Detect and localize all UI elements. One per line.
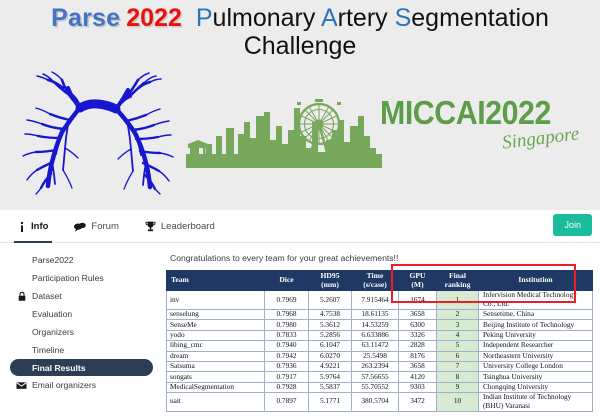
title-word-segmentation: egmentation	[411, 4, 549, 32]
cell-gpu: 3326	[399, 330, 437, 340]
cell-hd95: 4.9221	[309, 361, 352, 371]
cell-time: 14.53259	[352, 320, 399, 330]
cell-institution: Peking University	[479, 330, 593, 340]
col-header-dice: Dice	[265, 271, 309, 291]
table-row: uait0.78975.1771380.5704347210Indian Ins…	[167, 393, 593, 412]
info-icon	[18, 222, 26, 232]
table-row: senselung0.79684.753818.6113536582Senset…	[167, 309, 593, 319]
col-header-time-line1: Time	[367, 271, 384, 280]
tab-forum-label: Forum	[91, 221, 118, 232]
title-line-challenge: Challenge	[0, 32, 600, 60]
cell-time: 57.56655	[352, 372, 399, 382]
cell-team: inv	[167, 291, 265, 310]
cell-rank: 4	[437, 330, 479, 340]
cell-gpu: 3472	[399, 393, 437, 412]
title-cap-a: A	[321, 4, 338, 32]
cell-hd95: 6.1047	[309, 341, 352, 351]
col-header-rank-line2: ranking	[445, 280, 471, 289]
table-row: Satsuma0.79364.9221263.239436587Universi…	[167, 361, 593, 371]
challenge-banner: Parse2022Pulmonary Artery Segmentation C…	[0, 0, 600, 210]
cell-rank: 8	[437, 372, 479, 382]
cell-rank: 9	[437, 382, 479, 392]
cell-team: uait	[167, 393, 265, 412]
col-header-final-ranking: Final ranking	[437, 271, 479, 291]
table-header-row: Team Dice HD95 (mm) Time (s/case)	[167, 271, 593, 291]
cell-rank: 6	[437, 351, 479, 361]
col-header-gpu: GPU (M)	[399, 271, 437, 291]
cell-institution: Northeastern University	[479, 351, 593, 361]
cell-time: 18.61135	[352, 309, 399, 319]
col-header-gpu-line2: (M)	[411, 280, 423, 289]
cell-time: 263.2394	[352, 361, 399, 371]
title-cap-s: S	[395, 4, 412, 32]
sidebar-icon-none	[16, 327, 27, 338]
cell-dice: 0.7940	[265, 341, 309, 351]
cell-rank: 10	[437, 393, 479, 412]
cell-gpu: 1674	[399, 291, 437, 310]
singapore-skyline-icon	[186, 96, 382, 168]
cell-hd95: 5.1771	[309, 393, 352, 412]
sidebar-item-final-results[interactable]: Final Results	[10, 359, 153, 376]
col-header-hd95-line2: (mm)	[321, 280, 339, 289]
cell-gpu: 8176	[399, 351, 437, 361]
cell-dice: 0.7917	[265, 372, 309, 382]
cell-dice: 0.7928	[265, 382, 309, 392]
sidebar-icon-none	[16, 362, 27, 373]
sidebar-item-email-organizers[interactable]: Email organizers	[10, 376, 160, 394]
title-year: 2022	[126, 4, 182, 32]
sidebar-item-parse2022[interactable]: Parse2022	[10, 251, 160, 269]
tab-info-label: Info	[31, 221, 48, 232]
cell-dice: 0.7942	[265, 351, 309, 361]
miccai-logo-text: MICCAI2022	[380, 96, 569, 129]
title-word-artery: rtery	[338, 4, 388, 32]
cell-dice: 0.7897	[265, 393, 309, 412]
sidebar-item-label: Dataset	[32, 291, 62, 301]
cell-team: yodo	[167, 330, 265, 340]
cell-institution: University College London	[479, 361, 593, 371]
cell-team: songats	[167, 372, 265, 382]
table-row: SenseMe0.79805.361214.5325963003Beijing …	[167, 320, 593, 330]
sidebar-icon-none	[16, 255, 27, 266]
col-header-time-line2: (s/case)	[363, 280, 387, 289]
table-row: MedicalSegmentation0.79285.583755.705529…	[167, 382, 593, 392]
cell-dice: 0.7833	[265, 330, 309, 340]
sidebar-item-label: Final Results	[32, 363, 85, 373]
cell-hd95: 5.3612	[309, 320, 352, 330]
sidebar-item-organizers[interactable]: Organizers	[10, 323, 160, 341]
cell-hd95: 5.2607	[309, 291, 352, 310]
cell-institution: Infervision Medical Technology Co., Ltd.	[479, 291, 593, 310]
cell-institution: Independent Researcher	[479, 341, 593, 351]
cell-dice: 0.7980	[265, 320, 309, 330]
sidebar-item-label: Parse2022	[32, 255, 74, 265]
col-header-rank-line1: Final	[449, 271, 466, 280]
col-header-institution: Institution	[479, 271, 593, 291]
trophy-icon	[145, 221, 156, 232]
tab-leaderboard[interactable]: Leaderboard	[145, 210, 215, 243]
cell-team: senselung	[167, 309, 265, 319]
title-cap-p: P	[196, 4, 213, 32]
cell-rank: 5	[437, 341, 479, 351]
cell-institution: Beijing Institute of Technology	[479, 320, 593, 330]
pulmonary-artery-tree-icon	[18, 70, 178, 195]
cell-dice: 0.7968	[265, 309, 309, 319]
sidebar-icon-none	[16, 309, 27, 320]
page-content: Parse2022 Participation Rules Dataset Ev…	[0, 243, 600, 418]
col-header-time: Time (s/case)	[352, 271, 399, 291]
join-button[interactable]: Join	[553, 214, 592, 236]
cell-rank: 7	[437, 361, 479, 371]
cell-dice: 0.7936	[265, 361, 309, 371]
sidebar-icon-none	[16, 273, 27, 284]
sidebar-item-participation-rules[interactable]: Participation Rules	[10, 269, 160, 287]
col-header-gpu-line1: GPU	[409, 271, 425, 280]
tab-leaderboard-label: Leaderboard	[161, 221, 215, 232]
lock-icon	[16, 291, 27, 302]
sidebar-icon-none	[16, 345, 27, 356]
cell-team: MedicalSegmentation	[167, 382, 265, 392]
cell-time: 63.11472	[352, 341, 399, 351]
cell-hd95: 5.5837	[309, 382, 352, 392]
main-panel: Congratulations to every team for your g…	[160, 243, 600, 418]
table-body: inv0.79695.26077.91546416741Infervision …	[167, 291, 593, 411]
cell-time: 7.915464	[352, 291, 399, 310]
banner-title: Parse2022Pulmonary Artery Segmentation C…	[0, 4, 600, 60]
cell-time: 380.5704	[352, 393, 399, 412]
cell-gpu: 6300	[399, 320, 437, 330]
cell-team: dream	[167, 351, 265, 361]
congratulations-text: Congratulations to every team for your g…	[170, 253, 592, 263]
tab-forum[interactable]: Forum	[74, 210, 118, 243]
sidebar-item-label: Organizers	[32, 327, 74, 337]
cell-time: 55.70552	[352, 382, 399, 392]
final-results-table: Team Dice HD95 (mm) Time (s/case)	[166, 270, 593, 412]
sidebar-item-label: Evaluation	[32, 309, 72, 319]
sidebar-item-evaluation[interactable]: Evaluation	[10, 305, 160, 323]
cell-hd95: 6.0270	[309, 351, 352, 361]
title-parse-word: Parse	[51, 4, 120, 32]
cell-gpu: 4120	[399, 372, 437, 382]
tab-info[interactable]: Info	[18, 210, 48, 243]
cell-institution: Sensetime, China	[479, 309, 593, 319]
title-word-pulmonary: ulmonary	[213, 4, 316, 32]
cell-dice: 0.7969	[265, 291, 309, 310]
cell-institution: Indian Institute of Technology (BHU) Var…	[479, 393, 593, 412]
cell-rank: 2	[437, 309, 479, 319]
cell-hd95: 4.7538	[309, 309, 352, 319]
col-header-hd95: HD95 (mm)	[309, 271, 352, 291]
cell-institution: Chongqing University	[479, 382, 593, 392]
table-row: libing_cmc0.79406.104763.1147228285Indep…	[167, 341, 593, 351]
cell-institution: Tsinghua University	[479, 372, 593, 382]
miccai-logo: MICCAI2022 Singapore	[380, 96, 585, 164]
table-row: dream0.79426.027025.549881766Northeaster…	[167, 351, 593, 361]
table-row: songats0.79175.976457.5665541208Tsinghua…	[167, 372, 593, 382]
results-table-wrapper: Team Dice HD95 (mm) Time (s/case)	[166, 270, 592, 412]
cell-gpu: 3658	[399, 309, 437, 319]
table-row: inv0.79695.26077.91546416741Infervision …	[167, 291, 593, 310]
cell-team: Satsuma	[167, 361, 265, 371]
tab-bar: Info Forum Leaderboard Join	[0, 210, 600, 243]
cell-hd95: 5.2856	[309, 330, 352, 340]
cell-time: 6.633886	[352, 330, 399, 340]
table-row: yodo0.78335.28566.63388633264Peking Univ…	[167, 330, 593, 340]
sidebar-item-label: Email organizers	[32, 380, 96, 390]
cell-time: 25.5498	[352, 351, 399, 361]
col-header-team: Team	[167, 271, 265, 291]
cell-team: libing_cmc	[167, 341, 265, 351]
col-header-hd95-line1: HD95	[321, 271, 340, 280]
envelope-icon	[16, 380, 27, 391]
sidebar-item-label: Timeline	[32, 345, 64, 355]
cell-team: SenseMe	[167, 320, 265, 330]
cell-rank: 1	[437, 291, 479, 310]
cell-rank: 3	[437, 320, 479, 330]
cell-gpu: 9303	[399, 382, 437, 392]
cell-hd95: 5.9764	[309, 372, 352, 382]
cell-gpu: 3658	[399, 361, 437, 371]
sidebar-item-label: Participation Rules	[32, 273, 104, 283]
challenge-page: Parse2022Pulmonary Artery Segmentation C…	[0, 0, 600, 418]
cell-gpu: 2828	[399, 341, 437, 351]
sidebar-item-dataset[interactable]: Dataset	[10, 287, 160, 305]
chat-icon	[74, 222, 86, 232]
sidebar-nav: Parse2022 Participation Rules Dataset Ev…	[0, 243, 160, 418]
sidebar-item-timeline[interactable]: Timeline	[10, 341, 160, 359]
